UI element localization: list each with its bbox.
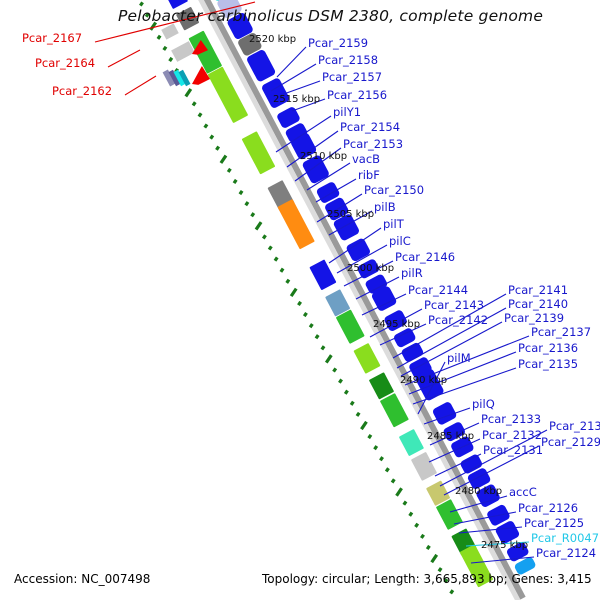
gene-feature[interactable] [242, 131, 276, 174]
ruler-major-tick [360, 421, 368, 430]
gene-feature[interactable] [309, 259, 336, 290]
gene-label-highlighted[interactable]: Pcar_2162 [52, 85, 112, 97]
gene-label[interactable]: Pcar_2130 [549, 420, 600, 432]
ruler-position-label: 2485 kbp [427, 431, 474, 442]
ruler-minor-tick [274, 257, 279, 262]
ruler-minor-tick [139, 1, 144, 6]
ruler-minor-tick [209, 135, 214, 140]
gene-label[interactable]: Pcar_2158 [318, 54, 378, 66]
ruler-major-tick [184, 88, 192, 97]
ruler-minor-tick [426, 545, 431, 550]
ruler-position-label: 2505 kbp [327, 209, 374, 220]
ruler-minor-tick [420, 534, 425, 539]
gene-label[interactable]: Pcar_2132 [482, 429, 542, 441]
ruler-minor-tick [168, 57, 173, 62]
ruler-minor-tick [391, 478, 396, 483]
ruler-minor-tick [309, 323, 314, 328]
ruler-position-label: 2520 kbp [249, 34, 296, 45]
gene-label[interactable]: Pcar_2139 [504, 312, 564, 324]
gene-label[interactable]: Pcar_2146 [395, 251, 455, 263]
ruler-tick-marks [139, 1, 466, 600]
gene-label[interactable]: pilR [401, 267, 423, 279]
gene-label[interactable]: pilB [374, 201, 396, 213]
ruler-position-label: 2490 kbp [400, 375, 447, 386]
ruler-position-label: 2515 kbp [273, 94, 320, 105]
ruler-minor-tick [157, 35, 162, 40]
ruler-minor-tick [367, 434, 372, 439]
ruler-minor-tick [215, 146, 220, 151]
gene-label[interactable]: Pcar_2135 [518, 358, 578, 370]
ruler-minor-tick [280, 268, 285, 273]
ruler-minor-tick [239, 190, 244, 195]
gene-label[interactable]: pilC [389, 235, 411, 247]
ruler-major-tick [430, 554, 438, 563]
ruler-minor-tick [227, 168, 232, 173]
gene-label[interactable]: Pcar_2124 [536, 547, 596, 559]
ruler-minor-tick [198, 112, 203, 117]
gene-label[interactable]: pilM [447, 352, 471, 364]
ruler-minor-tick [244, 201, 249, 206]
leader-line [108, 50, 140, 67]
gene-feature[interactable] [411, 452, 437, 481]
gene-label[interactable]: vacB [352, 153, 380, 165]
accession-status: Accession: NC_007498 [14, 572, 150, 586]
ruler-minor-tick [262, 234, 267, 239]
gene-label[interactable]: Pcar_2143 [424, 299, 484, 311]
ruler-minor-tick [203, 123, 208, 128]
leader-line [281, 81, 320, 95]
gene-label[interactable]: Pcar_2125 [524, 517, 584, 529]
ruler-minor-tick [373, 445, 378, 450]
gene-label[interactable]: Pcar_2157 [322, 71, 382, 83]
ruler-minor-tick [268, 245, 273, 250]
ruler-minor-tick [356, 412, 361, 417]
gene-label-highlighted[interactable]: Pcar_2164 [35, 57, 95, 69]
gene-label[interactable]: Pcar_2137 [531, 326, 591, 338]
ruler-minor-tick [449, 589, 454, 594]
gene-label[interactable]: Pcar_2141 [508, 284, 568, 296]
gene-label[interactable]: accC [509, 486, 537, 498]
genome-map-viewport[interactable]: Pelobacter carbinolicus DSM 2380, comple… [0, 0, 600, 600]
ruler-major-tick [220, 155, 228, 164]
gene-label[interactable]: Pcar_2126 [518, 502, 578, 514]
ruler-minor-tick [385, 467, 390, 472]
ruler-major-tick [325, 354, 333, 363]
leader-line [271, 64, 316, 91]
gene-feature[interactable] [380, 393, 409, 427]
ruler-position-label: 2475 kbp [481, 540, 528, 551]
gene-label[interactable]: Pcar_2142 [428, 314, 488, 326]
page-title: Pelobacter carbinolicus DSM 2380, comple… [118, 7, 543, 25]
ruler-minor-tick [408, 512, 413, 517]
gene-label[interactable]: Pcar_2156 [327, 89, 387, 101]
gene-label[interactable]: Pcar_2131 [483, 444, 543, 456]
gene-label[interactable]: pilQ [472, 398, 495, 410]
gene-label[interactable]: Pcar_R0047 [531, 532, 599, 544]
gene-label[interactable]: Pcar_2159 [308, 37, 368, 49]
ruler-major-tick [395, 487, 403, 496]
ruler-minor-tick [297, 301, 302, 306]
gene-label[interactable]: pilT [383, 218, 404, 230]
gene-feature[interactable] [161, 23, 179, 39]
gene-label[interactable]: Pcar_2154 [340, 121, 400, 133]
topology-status: Topology: circular; Length: 3,665,893 bp… [262, 572, 592, 586]
ruler-position-label: 2495 kbp [373, 319, 420, 330]
gene-label[interactable]: Pcar_2150 [364, 184, 424, 196]
gene-feature[interactable] [171, 41, 195, 62]
gene-label[interactable]: Pcar_2144 [408, 284, 468, 296]
gene-label[interactable]: Pcar_2140 [508, 298, 568, 310]
gene-feature[interactable] [336, 309, 365, 343]
ruler-minor-tick [285, 279, 290, 284]
ruler-minor-tick [414, 523, 419, 528]
gene-feature[interactable] [436, 499, 463, 530]
ruler-position-label: 2500 kbp [347, 263, 394, 274]
gene-label[interactable]: Pcar_2136 [518, 342, 578, 354]
ruler-minor-tick [192, 101, 197, 106]
gene-feature[interactable] [399, 429, 424, 456]
ruler-minor-tick [250, 212, 255, 217]
ruler-minor-tick [402, 501, 407, 506]
gene-label[interactable]: Pcar_2153 [343, 138, 403, 150]
ruler-minor-tick [315, 334, 320, 339]
ruler-major-tick [255, 221, 263, 230]
ruler-position-label: 2510 kbp [300, 151, 347, 162]
ruler-minor-tick [379, 456, 384, 461]
gene-label-highlighted[interactable]: Pcar_2167 [22, 32, 82, 44]
leader-line [125, 76, 156, 95]
ruler-major-tick [290, 288, 298, 297]
ruler-minor-tick [332, 367, 337, 372]
ruler-minor-tick [303, 312, 308, 317]
ruler-minor-tick [338, 379, 343, 384]
gene-label[interactable]: Pcar_2129 [541, 436, 600, 448]
ruler-position-label: 2480 kbp [455, 486, 502, 497]
gene-label[interactable]: ribF [358, 169, 380, 181]
ruler-minor-tick [350, 401, 355, 406]
ruler-minor-tick [162, 46, 167, 51]
ruler-minor-tick [344, 390, 349, 395]
ruler-minor-tick [321, 345, 326, 350]
ruler-minor-tick [233, 179, 238, 184]
gene-label[interactable]: Pcar_2133 [481, 413, 541, 425]
gene-feature[interactable] [353, 343, 380, 374]
gene-label[interactable]: pilY1 [333, 106, 361, 118]
